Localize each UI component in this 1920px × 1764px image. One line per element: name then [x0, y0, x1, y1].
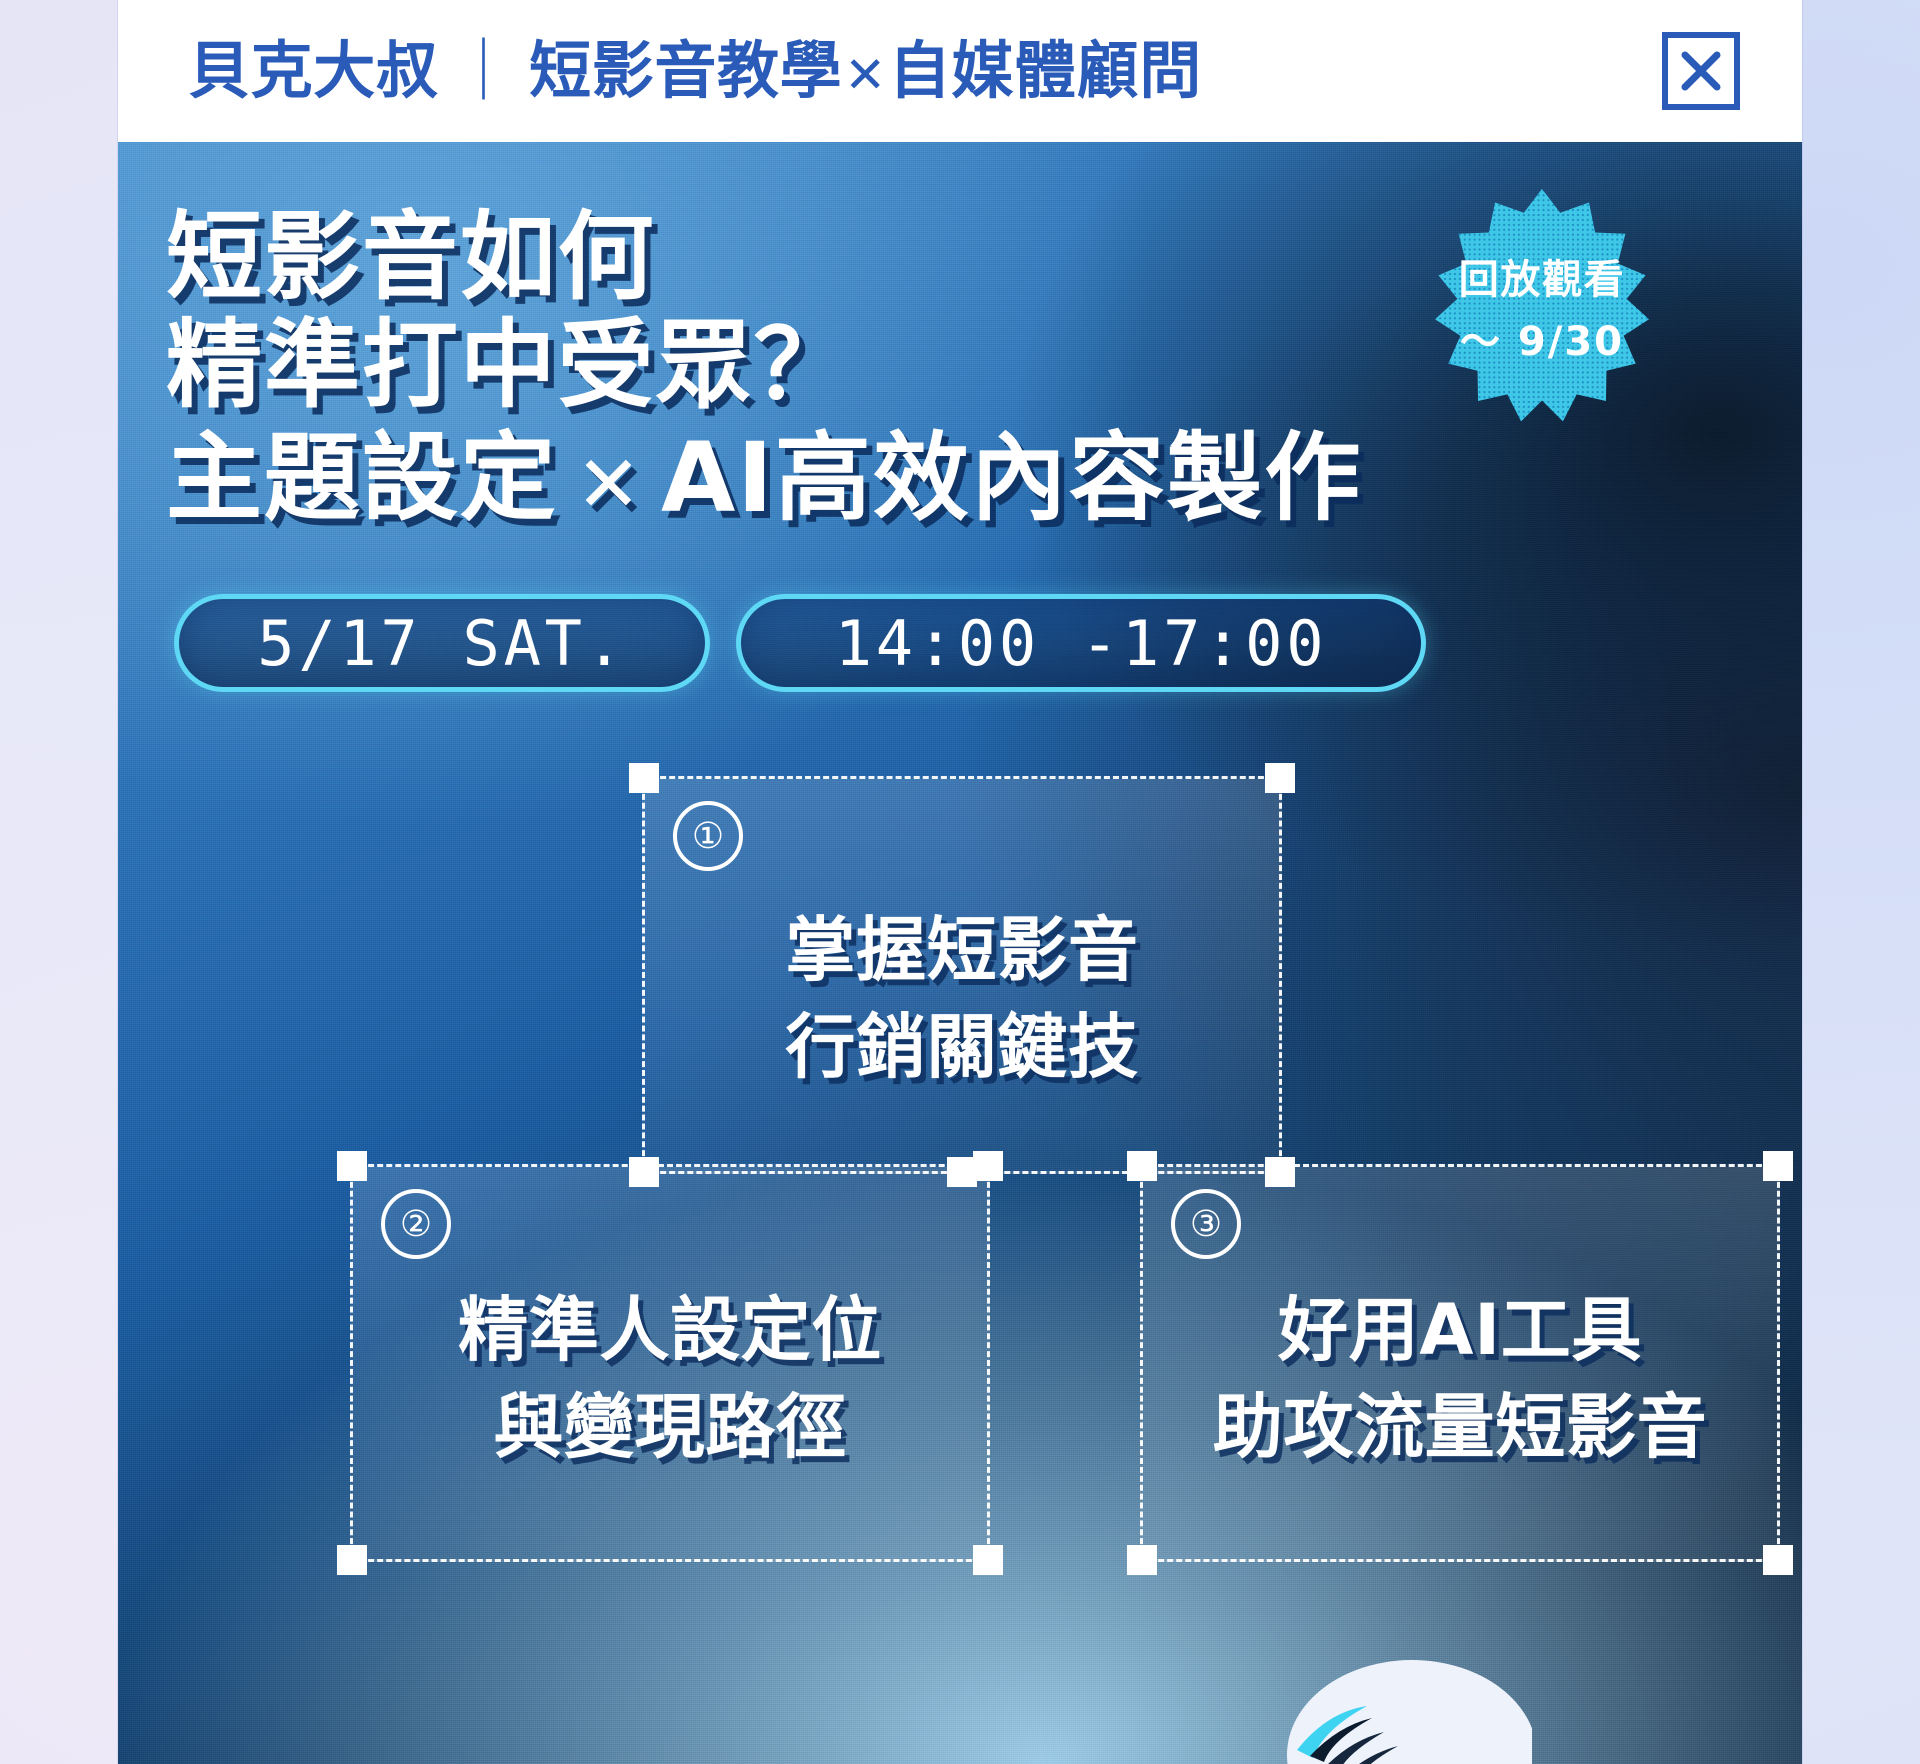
brand-tagline-a: 短影音教學: [529, 40, 842, 102]
resize-handle[interactable]: [1127, 1545, 1157, 1575]
time-pill: 14:00 -17:00: [736, 594, 1426, 692]
brand-separator: ｜: [438, 40, 529, 102]
feature-card-1: ① 掌握短影音 行銷關鍵技: [642, 776, 1282, 1174]
brand-name: 貝克大叔: [188, 40, 438, 102]
feature-card-2: ② 精準人設定位 與變現路徑: [350, 1164, 990, 1562]
resize-handle[interactable]: [337, 1151, 367, 1181]
card-number-badge: ①: [673, 801, 743, 871]
badge-text: 回放觀看 ～ 9/30: [1418, 184, 1666, 430]
headline-cross-icon: ✕: [558, 440, 661, 530]
card-text: 好用AI工具 助攻流量短影音: [1143, 1289, 1777, 1468]
resize-handle[interactable]: [1763, 1151, 1793, 1181]
resize-handle[interactable]: [973, 1151, 1003, 1181]
resize-handle[interactable]: [337, 1545, 367, 1575]
feature-card-3: ③ 好用AI工具 助攻流量短影音: [1140, 1164, 1780, 1562]
post-card: 貝克大叔 ｜ 短影音教學 ✕ 自媒體顧問 短影音如何 精準打中受眾？ 主題設定✕…: [118, 0, 1802, 1764]
badge-line-1: 回放觀看: [1459, 247, 1625, 305]
card-line-1: 精準人設定位: [458, 1289, 882, 1372]
brand-cross-icon: ✕: [842, 50, 889, 100]
card-text: 精準人設定位 與變現路徑: [353, 1289, 987, 1468]
brand-tagline-b: 自媒體顧問: [889, 40, 1202, 102]
mascot-illustration: [1202, 1580, 1532, 1764]
close-icon: [1679, 49, 1723, 93]
date-pill: 5/17 SAT.: [174, 594, 710, 692]
resize-handle[interactable]: [1763, 1545, 1793, 1575]
card-number-badge: ②: [381, 1189, 451, 1259]
card-line-1: 好用AI工具: [1278, 1289, 1642, 1372]
resize-handle[interactable]: [973, 1545, 1003, 1575]
headline-line-3: 主題設定✕AI高效內容製作: [166, 425, 1362, 533]
card-line-2: 助攻流量短影音: [1213, 1386, 1707, 1469]
card-line-2: 行銷關鍵技: [785, 1006, 1138, 1089]
headline-topic: 主題設定: [166, 422, 558, 534]
headline-ai: AI高效內容製作: [661, 422, 1362, 534]
card-line-1: 掌握短影音: [785, 909, 1138, 992]
poster-artwork: 短影音如何 精準打中受眾？ 主題設定✕AI高效內容製作: [118, 142, 1802, 1764]
badge-line-2: ～ 9/30: [1460, 309, 1624, 367]
resize-handle[interactable]: [629, 763, 659, 793]
replay-badge: 回放觀看 ～ 9/30: [1418, 184, 1666, 430]
brand-title: 貝克大叔 ｜ 短影音教學 ✕ 自媒體顧問: [188, 40, 1202, 102]
header-bar: 貝克大叔 ｜ 短影音教學 ✕ 自媒體顧問: [118, 0, 1802, 142]
resize-handle[interactable]: [1265, 763, 1295, 793]
card-text: 掌握短影音 行銷關鍵技: [645, 909, 1279, 1088]
close-button[interactable]: [1662, 32, 1740, 110]
card-line-2: 與變現路徑: [493, 1386, 846, 1469]
schedule-pills: 5/17 SAT. 14:00 -17:00: [174, 594, 1426, 692]
poster-headline: 短影音如何 精準打中受眾？ 主題設定✕AI高效內容製作: [166, 204, 1362, 533]
headline-line-1: 短影音如何: [166, 204, 1362, 312]
resize-handle[interactable]: [1127, 1151, 1157, 1181]
headline-line-2: 精準打中受眾？: [166, 312, 1362, 420]
card-number-badge: ③: [1171, 1189, 1241, 1259]
